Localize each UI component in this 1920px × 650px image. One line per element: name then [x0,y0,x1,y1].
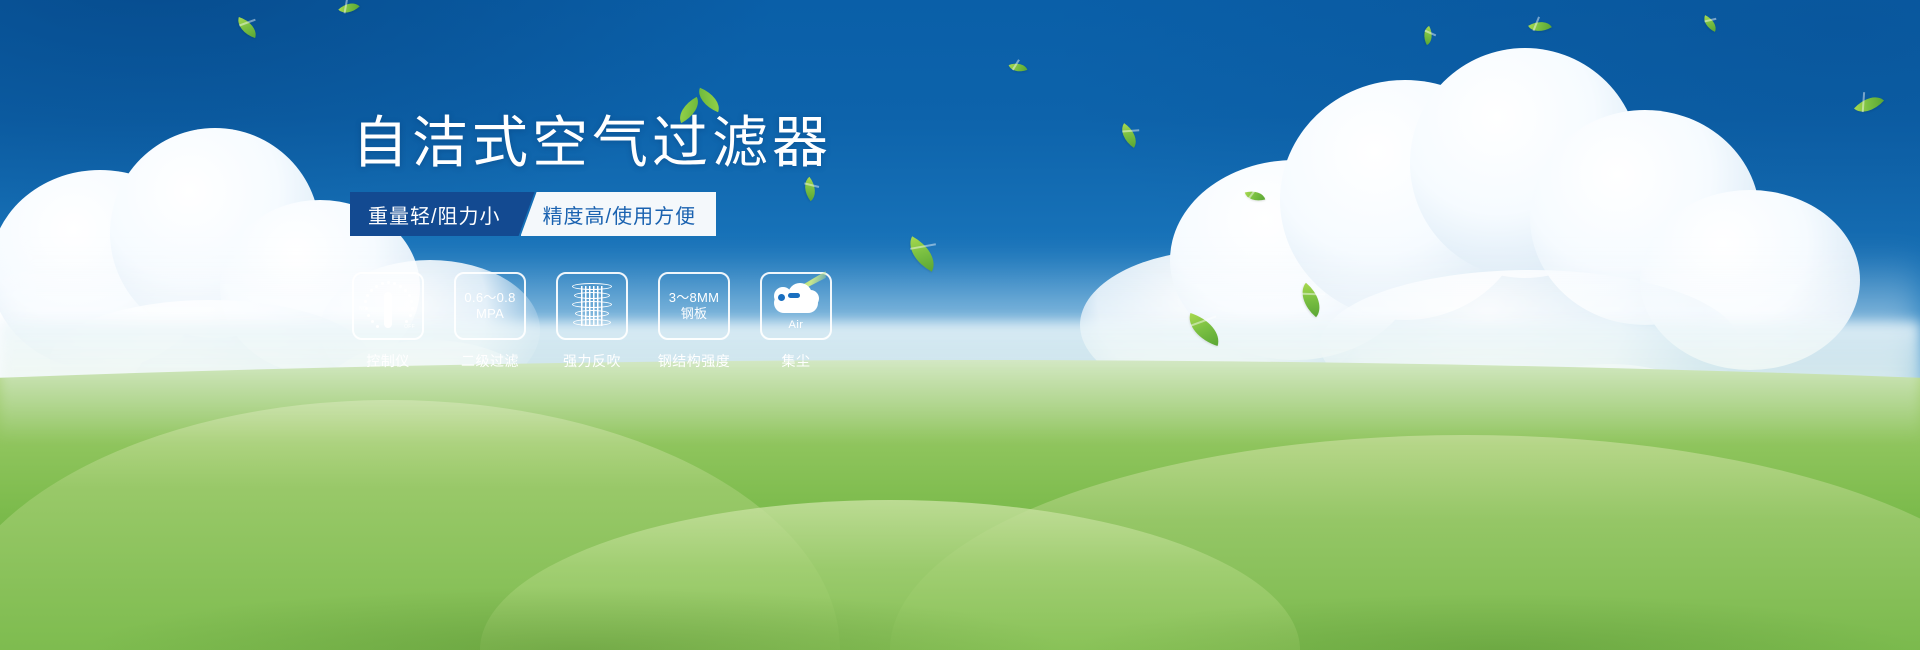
steel-plate-icon: 3～8MM 钢板 [669,290,720,323]
pressure-value: 0.6～0.8 [464,290,515,306]
feature-box: Air [760,272,832,340]
feature-box: NO OFF [352,272,424,340]
feature-box: 0.6～0.8 MPA [454,272,526,340]
steel-material: 钢板 [669,306,720,322]
tagline-right: 精度高/使用方便 [521,192,717,236]
coil-icon [570,282,614,330]
feature-item-filtration[interactable]: 0.6～0.8 MPA 二级过滤 [454,272,526,371]
feature-box: 3～8MM 钢板 [658,272,730,340]
tagline-bar: 重量轻/阻力小 精度高/使用方便 [350,192,716,236]
feature-box [556,272,628,340]
feature-item-blowback[interactable]: 强力反吹 [556,272,628,371]
feature-label: 强力反吹 [563,351,621,371]
feature-label: 二级过滤 [461,351,519,371]
gauge-needle [384,292,392,328]
feature-item-dust[interactable]: Air 集尘 [760,272,832,371]
steel-thickness: 3～8MM [669,290,720,306]
feature-label: 集尘 [782,351,811,371]
gauge-icon: NO OFF [360,280,416,332]
feature-item-steel[interactable]: 3～8MM 钢板 钢结构强度 [658,272,730,371]
tagline-left: 重量轻/阻力小 [350,192,535,236]
feature-label: 控制仪 [366,351,410,371]
banner-content: 自洁式空气过滤器 重量轻/阻力小 精度高/使用方便 [0,0,1920,650]
air-label: Air [768,319,824,331]
feature-item-controller[interactable]: NO OFF 控制仪 [352,272,424,371]
pressure-icon: 0.6～0.8 MPA [464,290,515,323]
gauge-min-label: NO [359,306,367,312]
feature-label: 钢结构强度 [658,351,731,371]
air-cloud-icon: Air [768,283,824,329]
promo-banner: 自洁式空气过滤器 重量轻/阻力小 精度高/使用方便 [0,0,1920,650]
page-title: 自洁式空气过滤器 [352,114,832,173]
feature-list: NO OFF 控制仪 0.6～0.8 MPA 二级过滤 [352,272,832,371]
pressure-unit: MPA [464,306,515,322]
gauge-max-label: OFF [404,324,415,330]
